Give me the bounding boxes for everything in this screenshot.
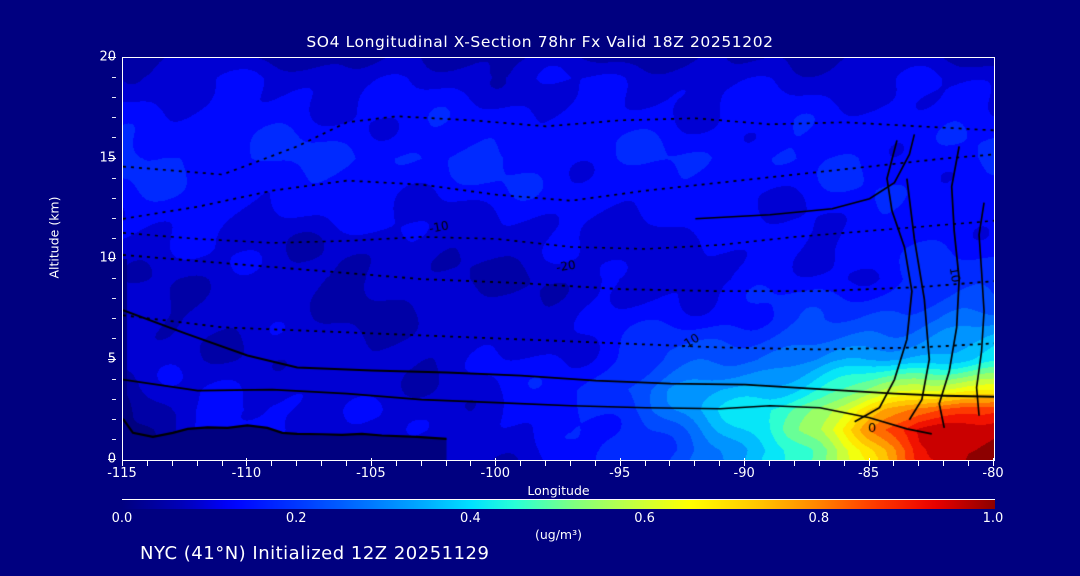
x-minor-tick	[296, 461, 297, 466]
x-minor-tick	[669, 461, 670, 466]
x-tick-mark	[993, 458, 994, 466]
x-minor-tick	[694, 461, 695, 466]
y-tick-mark	[108, 359, 116, 360]
x-tick-label: -80	[982, 466, 1003, 481]
y-tick-mark	[108, 57, 116, 58]
y-minor-tick	[112, 238, 116, 239]
colorbar-unit-label: (ug/m³)	[122, 527, 995, 542]
y-minor-tick	[112, 77, 116, 78]
x-tick-mark	[495, 458, 496, 466]
y-tick-mark	[108, 459, 116, 460]
plot-area	[122, 57, 995, 461]
y-minor-tick	[112, 278, 116, 279]
x-minor-tick	[595, 461, 596, 466]
x-minor-tick	[147, 461, 148, 466]
x-minor-tick	[968, 461, 969, 466]
x-tick-mark	[869, 458, 870, 466]
y-minor-tick	[112, 298, 116, 299]
x-tick-label: -90	[734, 466, 755, 481]
y-minor-tick	[112, 399, 116, 400]
x-tick-mark	[122, 458, 123, 466]
y-minor-tick	[112, 137, 116, 138]
x-minor-tick	[197, 461, 198, 466]
y-minor-tick	[112, 117, 116, 118]
y-minor-tick	[112, 419, 116, 420]
x-minor-tick	[819, 461, 820, 466]
y-minor-tick	[112, 439, 116, 440]
colorbar-gradient	[122, 499, 995, 509]
chart-title: SO4 Longitudinal X-Section 78hr Fx Valid…	[0, 33, 1080, 51]
y-minor-tick	[112, 338, 116, 339]
x-tick-label: -105	[356, 466, 386, 481]
x-tick-mark	[744, 458, 745, 466]
colorbar	[122, 499, 995, 509]
y-minor-tick	[112, 318, 116, 319]
x-minor-tick	[918, 461, 919, 466]
x-tick-label: -95	[609, 466, 630, 481]
x-minor-tick	[570, 461, 571, 466]
x-minor-tick	[421, 461, 422, 466]
y-minor-tick	[112, 97, 116, 98]
x-minor-tick	[271, 461, 272, 466]
x-tick-mark	[620, 458, 621, 466]
x-tick-label: -115	[107, 466, 137, 481]
x-tick-mark	[371, 458, 372, 466]
x-tick-mark	[246, 458, 247, 466]
y-minor-tick	[112, 379, 116, 380]
x-minor-tick	[470, 461, 471, 466]
colorbar-tick-label: 0.6	[634, 511, 655, 526]
x-axis-title: Longitude	[122, 483, 995, 498]
x-minor-tick	[172, 461, 173, 466]
colorbar-tick-label: 0.2	[286, 511, 307, 526]
x-minor-tick	[222, 461, 223, 466]
cross-section-heatmap	[123, 58, 994, 460]
x-minor-tick	[446, 461, 447, 466]
x-minor-tick	[893, 461, 894, 466]
x-minor-tick	[321, 461, 322, 466]
x-tick-label: -85	[858, 466, 879, 481]
y-tick-mark	[108, 158, 116, 159]
chart-figure: SO4 Longitudinal X-Section 78hr Fx Valid…	[0, 0, 1080, 576]
y-axis: 05101520	[78, 57, 116, 461]
x-minor-tick	[520, 461, 521, 466]
x-minor-tick	[396, 461, 397, 466]
colorbar-tick-label: 0.8	[808, 511, 829, 526]
x-minor-tick	[794, 461, 795, 466]
colorbar-tick-label: 0.4	[460, 511, 481, 526]
y-minor-tick	[112, 198, 116, 199]
x-tick-label: -100	[481, 466, 511, 481]
y-tick-mark	[108, 258, 116, 259]
x-minor-tick	[346, 461, 347, 466]
y-axis-title: Altitude (km)	[47, 178, 62, 298]
x-minor-tick	[545, 461, 546, 466]
x-minor-tick	[844, 461, 845, 466]
x-minor-tick	[719, 461, 720, 466]
colorbar-tick-label: 1.0	[983, 511, 1004, 526]
figure-caption: NYC (41°N) Initialized 12Z 20251129	[140, 543, 489, 564]
y-minor-tick	[112, 218, 116, 219]
x-tick-label: -110	[232, 466, 262, 481]
colorbar-tick-label: 0.0	[112, 511, 133, 526]
x-minor-tick	[769, 461, 770, 466]
y-minor-tick	[112, 178, 116, 179]
x-minor-tick	[645, 461, 646, 466]
x-minor-tick	[943, 461, 944, 466]
